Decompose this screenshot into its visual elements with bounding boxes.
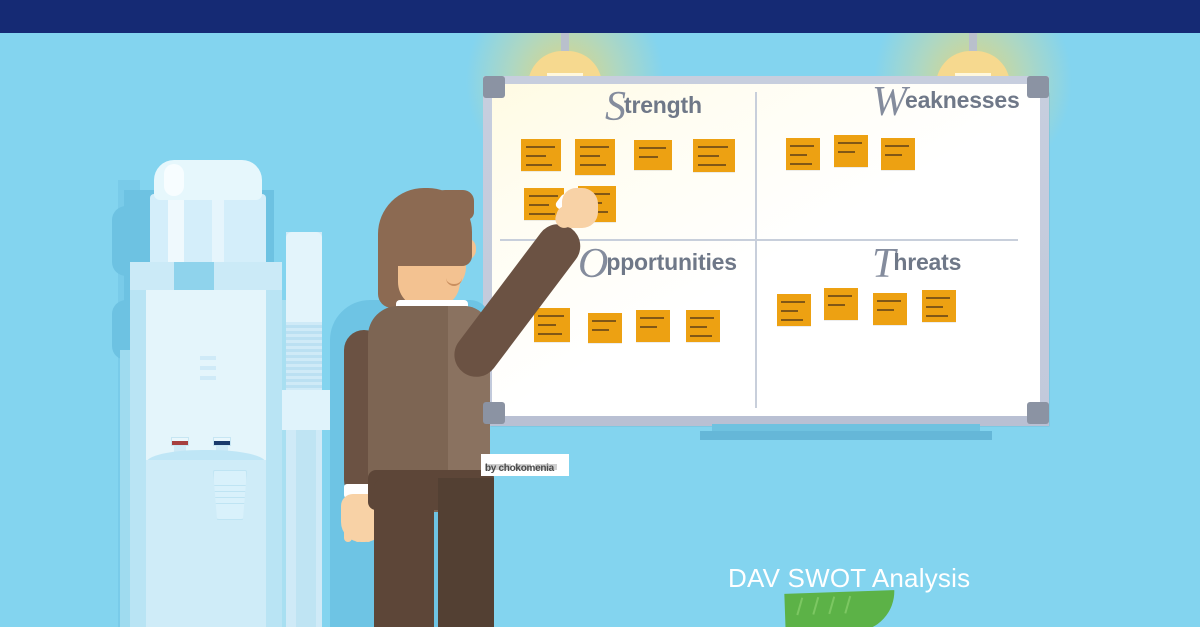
note-scribble-line: [690, 317, 714, 319]
leaf-vein: [828, 596, 835, 614]
whiteboard-tray-shadow: [700, 431, 992, 440]
cooler-vent: [200, 376, 216, 380]
cooler-vent: [200, 356, 216, 360]
note-scribble-line: [926, 297, 950, 299]
note-scribble-line: [526, 155, 546, 157]
note-scribble-line: [790, 163, 812, 165]
tap-color-marker: [214, 441, 230, 445]
finger: [344, 514, 352, 542]
note-scribble-line: [640, 326, 657, 328]
quadrant-capital-letter: W: [872, 79, 905, 125]
note-scribble-line: [885, 145, 909, 147]
note-scribble-line: [698, 155, 719, 157]
illustration-canvas: Strength Weaknesses Opportunities Threat…: [0, 0, 1200, 627]
note-scribble-line: [592, 320, 616, 322]
quadrant-title-weaknesses: Weaknesses: [872, 81, 1020, 123]
right-hand-pointing: [562, 188, 598, 228]
cooler-pole-grill: [286, 322, 322, 390]
quadrant-title-threats: Threats: [872, 243, 961, 285]
note-scribble-line: [781, 319, 803, 321]
sticky-note-weaknesses[interactable]: [881, 138, 915, 170]
note-scribble-line: [838, 142, 862, 144]
plant-leaf: [784, 590, 895, 627]
cup-ridge: [214, 485, 246, 486]
note-scribble-line: [529, 204, 549, 206]
quadrant-title-rest: eaknesses: [905, 87, 1020, 113]
note-scribble-line: [529, 213, 555, 215]
sticky-note-opportunities[interactable]: [636, 310, 670, 342]
bottle-cap-highlight: [164, 164, 184, 196]
note-scribble-line: [781, 310, 798, 312]
note-scribble-line: [698, 164, 726, 166]
sticky-note-opportunities[interactable]: [534, 308, 570, 342]
note-scribble-line: [538, 324, 556, 326]
sticky-note-weaknesses[interactable]: [834, 135, 868, 167]
quadrant-capital-letter: T: [872, 241, 893, 287]
note-scribble-line: [877, 309, 894, 311]
finger: [354, 514, 362, 542]
cup-ridge: [214, 497, 246, 498]
note-scribble-line: [877, 300, 901, 302]
note-scribble-line: [698, 146, 728, 148]
note-scribble-line: [690, 335, 712, 337]
whiteboard-corner-bracket: [1027, 76, 1049, 98]
note-scribble-line: [592, 329, 609, 331]
cooler-pole-base: [296, 430, 316, 627]
note-scribble-line: [538, 315, 564, 317]
quadrant-capital-letter: O: [578, 241, 606, 287]
tap-color-marker: [172, 441, 188, 445]
paper-cup[interactable]: [213, 470, 247, 520]
sticky-note-threats[interactable]: [777, 294, 811, 326]
finger: [364, 514, 372, 542]
sticky-note-weaknesses[interactable]: [786, 138, 820, 170]
note-scribble-line: [838, 151, 855, 153]
note-scribble-line: [580, 164, 606, 166]
quadrant-divider-vertical: [755, 92, 757, 408]
cup-ridge: [214, 491, 246, 492]
sticky-note-opportunities[interactable]: [686, 310, 720, 342]
note-scribble-line: [885, 154, 902, 156]
note-scribble-line: [690, 326, 707, 328]
note-scribble-line: [538, 333, 562, 335]
cooler-vent: [200, 366, 216, 370]
whiteboard-corner-bracket: [483, 402, 505, 424]
quadrant-capital-letter: S: [605, 84, 624, 130]
sticky-note-threats[interactable]: [922, 290, 956, 322]
note-scribble-line: [926, 315, 948, 317]
cooler-pole-box: [278, 390, 330, 430]
page-title: DAV SWOT Analysis: [728, 563, 970, 594]
note-scribble-line: [640, 317, 664, 319]
sticky-note-opportunities[interactable]: [588, 313, 622, 343]
note-scribble-line: [790, 154, 807, 156]
top-navigation-bar: [0, 0, 1200, 33]
watermark: by chokomenia: [481, 454, 569, 476]
sticky-note-strength[interactable]: [521, 139, 561, 171]
note-scribble-line: [529, 195, 558, 197]
sticky-note-strength[interactable]: [693, 139, 735, 172]
note-scribble-line: [526, 164, 552, 166]
sticky-note-threats[interactable]: [824, 288, 858, 320]
cooler-top-accent: [174, 262, 214, 290]
note-scribble-line: [639, 156, 658, 158]
leg-right: [438, 478, 494, 627]
note-scribble-line: [580, 155, 600, 157]
leg-left: [374, 478, 434, 627]
note-scribble-line: [828, 295, 852, 297]
sticky-note-strength[interactable]: [575, 139, 615, 175]
sticky-note-threats[interactable]: [873, 293, 907, 325]
cooler-pole-top: [286, 232, 322, 322]
note-scribble-line: [639, 147, 666, 149]
leaf-vein: [812, 597, 819, 615]
note-scribble-line: [790, 145, 814, 147]
hair-fringe: [430, 190, 474, 220]
leaf-vein: [796, 597, 803, 615]
cup-ridge: [214, 503, 246, 504]
quadrant-title-rest: trength: [624, 92, 702, 118]
note-scribble-line: [926, 306, 943, 308]
whiteboard-corner-bracket: [483, 76, 505, 98]
note-scribble-line: [781, 301, 805, 303]
cooler-lower-panel: [146, 460, 266, 627]
quadrant-title-rest: pportunities: [606, 249, 736, 275]
note-scribble-line: [828, 304, 845, 306]
note-scribble-line: [526, 146, 555, 148]
note-scribble-line: [580, 146, 609, 148]
quadrant-title-strength: Strength: [605, 86, 702, 128]
quadrant-title-rest: hreats: [893, 249, 961, 275]
watermark-text: by chokomenia: [485, 463, 554, 474]
whiteboard-corner-bracket: [1027, 402, 1049, 424]
sticky-note-strength[interactable]: [634, 140, 672, 170]
quadrant-title-opportunities: Opportunities: [578, 243, 737, 285]
leaf-vein: [844, 596, 851, 614]
